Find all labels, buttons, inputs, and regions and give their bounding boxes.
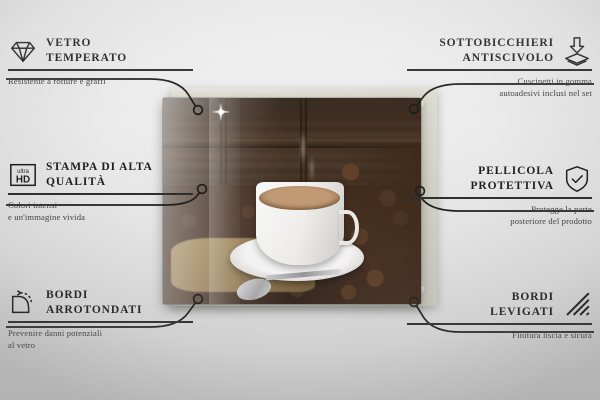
feature-sottobicchieri-antiscivolo: SOTTOBICCHIERI ANTISCIVOLO Cuscinetti in… — [407, 36, 592, 100]
feature-title: BORDI ARROTONDATI — [46, 288, 142, 318]
feature-bordi-levigati: BORDI LEVIGATI Finitura liscia e sicura — [407, 290, 592, 341]
feature-subtitle: Colori intensi e un'immagine vivida — [8, 199, 193, 224]
feature-stampa-alta-qualita: ultra HD STAMPA DI ALTA QUALITÀ Colori i… — [8, 160, 193, 224]
rounded-corner-icon — [8, 288, 38, 318]
feature-title: PELLICOLA PROTETTIVA — [470, 164, 554, 194]
feature-title: BORDI LEVIGATI — [490, 290, 554, 320]
feature-title: VETRO TEMPERATO — [46, 36, 127, 66]
feature-subtitle: Prevenire danni potenziali al vetro — [8, 327, 193, 352]
spoon-handle — [265, 269, 341, 280]
feature-title: SOTTOBICCHIERI ANTISCIVOLO — [439, 36, 554, 66]
feature-rule — [407, 197, 592, 199]
coffee-cup — [256, 182, 344, 264]
press-pad-icon — [562, 36, 592, 66]
feature-bordi-arrotondati: BORDI ARROTONDATI Prevenire danni potenz… — [8, 288, 193, 352]
feature-header: BORDI LEVIGATI — [407, 290, 592, 320]
feature-header: VETRO TEMPERATO — [8, 36, 193, 66]
feature-subtitle: Cuscinetti in gomma autoadesivi inclusi … — [407, 75, 592, 100]
feature-pellicola-protettiva: PELLICOLA PROTETTIVA Protegge la parte p… — [407, 164, 592, 228]
feature-header: BORDI ARROTONDATI — [8, 288, 193, 318]
product-image — [163, 88, 437, 310]
glass-board — [163, 98, 421, 304]
feature-rule — [407, 323, 592, 325]
shield-check-icon — [562, 164, 592, 194]
feature-rule — [8, 321, 193, 323]
feature-rule — [407, 69, 592, 71]
feature-rule — [8, 69, 193, 71]
feature-header: SOTTOBICCHIERI ANTISCIVOLO — [407, 36, 592, 66]
printed-photo — [163, 98, 421, 304]
feature-title: STAMPA DI ALTA QUALITÀ — [46, 160, 153, 190]
hatch-lines-icon — [562, 290, 592, 320]
svg-text:HD: HD — [16, 175, 30, 186]
feature-rule — [8, 193, 193, 195]
feature-header: PELLICOLA PROTETTIVA — [407, 164, 592, 194]
feature-header: ultra HD STAMPA DI ALTA QUALITÀ — [8, 160, 193, 190]
feature-subtitle: Finitura liscia e sicura — [407, 329, 592, 341]
feature-vetro-temperato: VETRO TEMPERATO Resistente a rotture e g… — [8, 36, 193, 87]
diamond-icon — [8, 36, 38, 66]
infographic-canvas: VETRO TEMPERATO Resistente a rotture e g… — [0, 0, 600, 400]
feature-subtitle: Protegge la parte posteriore del prodott… — [407, 203, 592, 228]
ultra-hd-icon: ultra HD — [8, 160, 38, 190]
coffee-crema — [259, 186, 340, 211]
cup-handle — [339, 210, 358, 245]
feature-subtitle: Resistente a rotture e graffi — [8, 75, 193, 87]
